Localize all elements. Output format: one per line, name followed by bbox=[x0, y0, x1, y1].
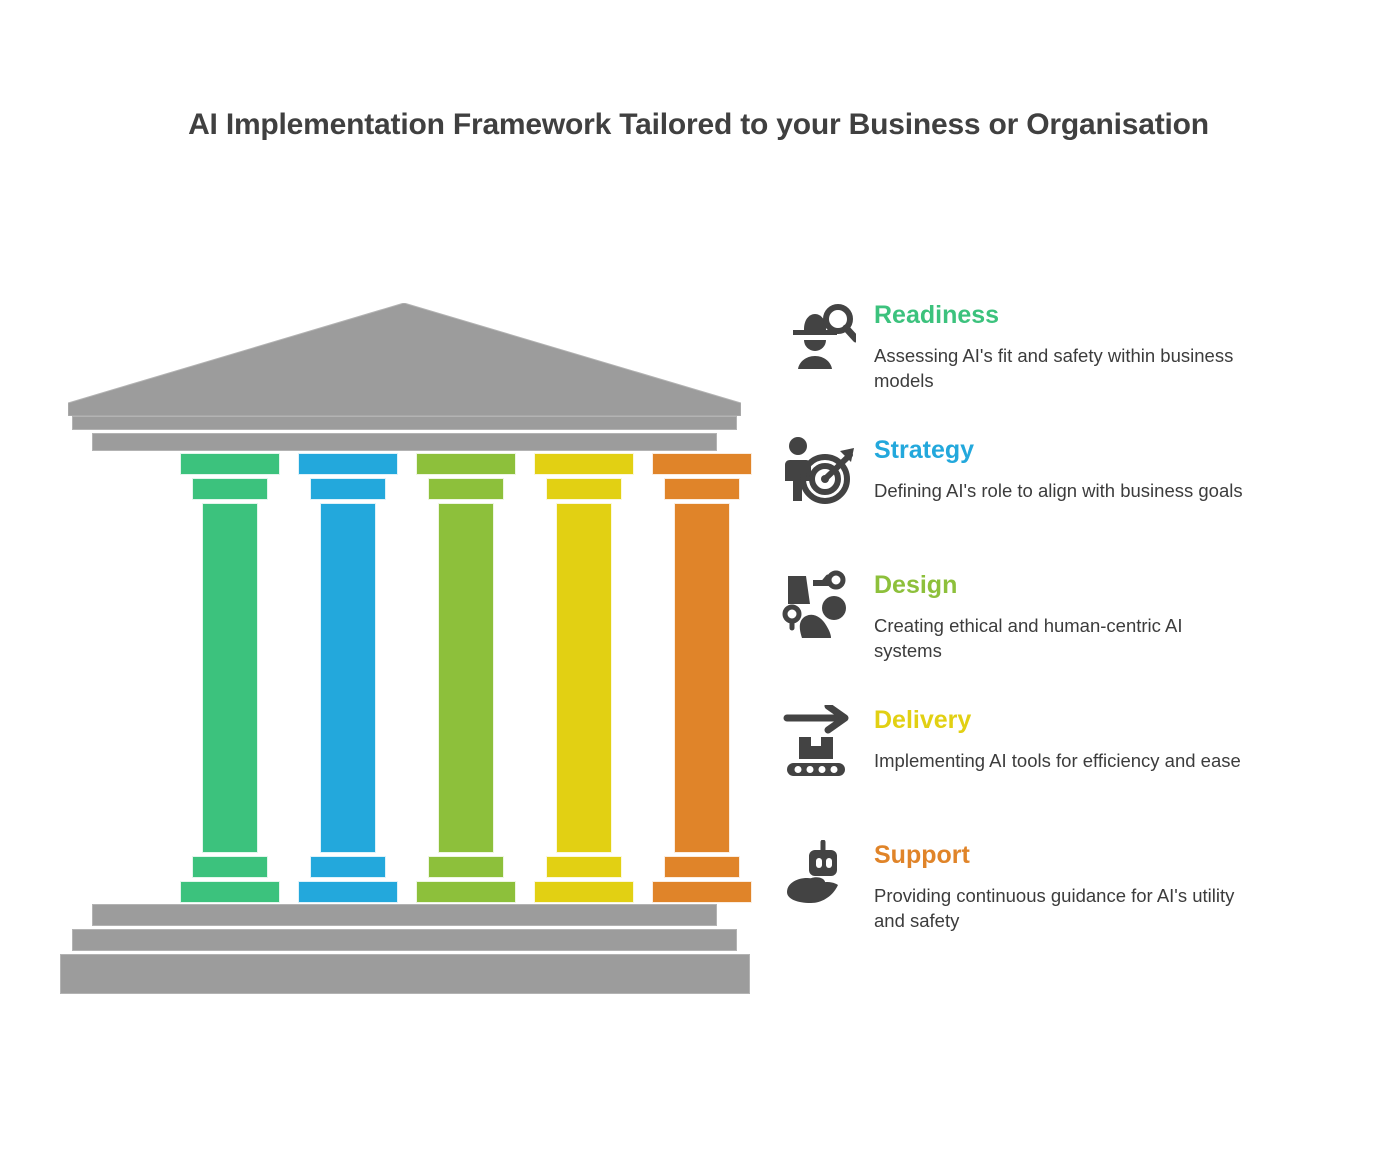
pillar-capital-mid bbox=[428, 478, 504, 500]
temple-lintel-upper bbox=[72, 416, 737, 430]
list-item-description: Creating ethical and human-centric AI sy… bbox=[874, 614, 1254, 663]
list-item-readiness[interactable]: Readiness Assessing AI's fit and safety … bbox=[782, 296, 1302, 431]
list-item-design[interactable]: Design Creating ethical and human-centri… bbox=[782, 566, 1302, 701]
list-item-description: Assessing AI's fit and safety within bus… bbox=[874, 344, 1254, 393]
pillar-base-bottom bbox=[180, 881, 280, 903]
pillar-capital-mid bbox=[546, 478, 622, 500]
conveyor-box-arrow-icon bbox=[782, 705, 856, 779]
list-item-description: Implementing AI tools for efficiency and… bbox=[874, 749, 1254, 774]
pillar-capital-top bbox=[180, 453, 280, 475]
pillar-base-bottom bbox=[416, 881, 516, 903]
list-item-heading: Delivery bbox=[874, 707, 971, 735]
temple-lintel-lower bbox=[92, 433, 717, 451]
pillar-shaft bbox=[320, 503, 376, 853]
pillar-base-mid bbox=[428, 856, 504, 878]
worker-magnifier-icon bbox=[782, 300, 856, 374]
pillar-capital-top bbox=[298, 453, 398, 475]
pillar-readiness[interactable] bbox=[180, 453, 280, 1173]
framework-pillar-list: Readiness Assessing AI's fit and safety … bbox=[782, 296, 1302, 971]
temple-step-upper bbox=[92, 904, 717, 926]
pillar-support[interactable] bbox=[652, 453, 752, 1173]
list-item-description: Defining AI's role to align with busines… bbox=[874, 479, 1254, 504]
pillar-capital-mid bbox=[310, 478, 386, 500]
temple-diagram bbox=[60, 295, 760, 955]
pillar-base-bottom bbox=[298, 881, 398, 903]
pillar-base-bottom bbox=[534, 881, 634, 903]
pillar-capital-top bbox=[416, 453, 516, 475]
temple-step-middle bbox=[72, 929, 737, 951]
list-item-heading: Design bbox=[874, 572, 957, 600]
pillar-base-mid bbox=[546, 856, 622, 878]
list-item-heading: Support bbox=[874, 842, 970, 870]
pillar-capital-mid bbox=[192, 478, 268, 500]
pediment-roof-icon bbox=[68, 303, 741, 416]
pillar-capital-top bbox=[652, 453, 752, 475]
pillar-capital-mid bbox=[664, 478, 740, 500]
design-person-shapes-icon bbox=[782, 570, 856, 644]
pillar-shaft bbox=[438, 503, 494, 853]
pillar-capital-top bbox=[534, 453, 634, 475]
pillar-delivery[interactable] bbox=[534, 453, 634, 1173]
pillar-base-mid bbox=[310, 856, 386, 878]
list-item-delivery[interactable]: Delivery Implementing AI tools for effic… bbox=[782, 701, 1302, 836]
list-item-description: Providing continuous guidance for AI's u… bbox=[874, 884, 1254, 933]
pillar-shaft bbox=[556, 503, 612, 853]
pillar-shaft bbox=[674, 503, 730, 853]
hand-robot-head-icon bbox=[782, 840, 856, 914]
list-item-strategy[interactable]: Strategy Defining AI's role to align wit… bbox=[782, 431, 1302, 566]
pillar-base-bottom bbox=[652, 881, 752, 903]
page-title: AI Implementation Framework Tailored to … bbox=[0, 108, 1397, 142]
list-item-heading: Readiness bbox=[874, 302, 999, 330]
pillar-shaft bbox=[202, 503, 258, 853]
temple-step-bottom bbox=[60, 954, 750, 994]
list-item-support[interactable]: Support Providing continuous guidance fo… bbox=[782, 836, 1302, 971]
pillar-design[interactable] bbox=[416, 453, 516, 1173]
pillar-base-mid bbox=[664, 856, 740, 878]
pillar-strategy[interactable] bbox=[298, 453, 398, 1173]
pillar-base-mid bbox=[192, 856, 268, 878]
list-item-heading: Strategy bbox=[874, 437, 974, 465]
infographic-canvas: AI Implementation Framework Tailored to … bbox=[0, 0, 1397, 1079]
person-target-dart-icon bbox=[782, 435, 856, 509]
